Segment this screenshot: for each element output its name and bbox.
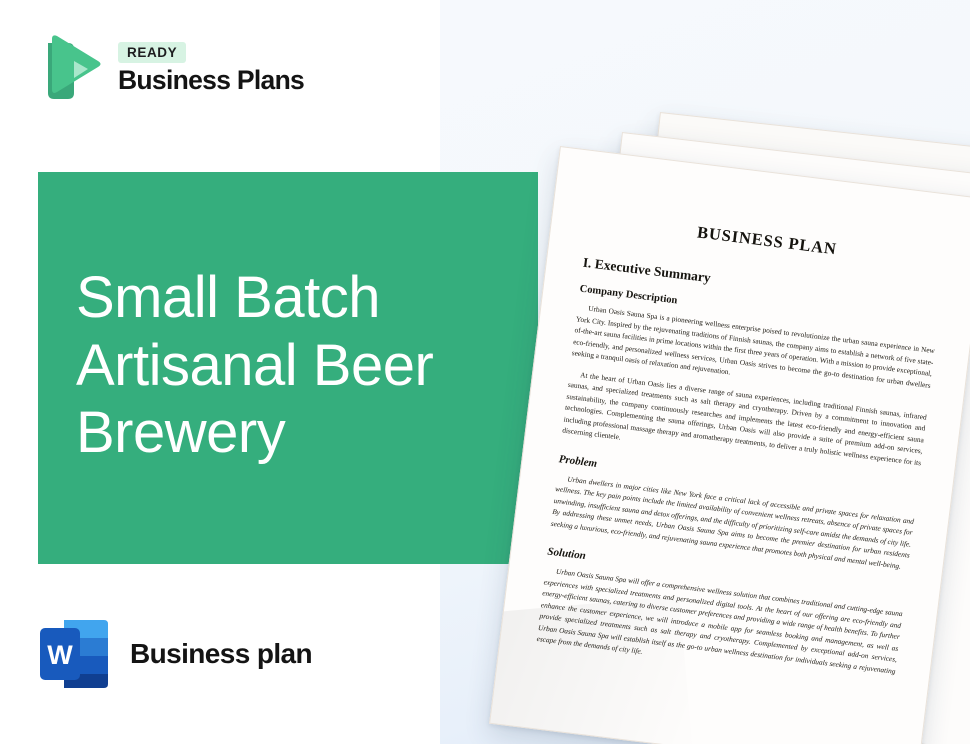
brand-name: Business Plans xyxy=(118,66,304,96)
brand-header: READY Business Plans xyxy=(38,33,304,103)
document-page-1: BUSINESS PLAN I. Executive Summary Compa… xyxy=(489,146,970,744)
document-format-footer: W Business plan xyxy=(38,616,312,692)
document-content: BUSINESS PLAN I. Executive Summary Compa… xyxy=(535,209,947,697)
brand-text-block: READY Business Plans xyxy=(118,40,304,96)
hero-panel: Small Batch Artisanal Beer Brewery xyxy=(38,172,538,564)
svg-text:W: W xyxy=(47,640,73,670)
double-play-triangle-logo-icon xyxy=(38,33,104,103)
document-format-label: Business plan xyxy=(130,638,312,670)
ready-badge: READY xyxy=(118,42,186,64)
page-title: Small Batch Artisanal Beer Brewery xyxy=(76,264,506,467)
preview-canvas: READY Business Plans Small Batch Artisan… xyxy=(0,0,970,744)
microsoft-word-icon: W xyxy=(38,616,110,692)
